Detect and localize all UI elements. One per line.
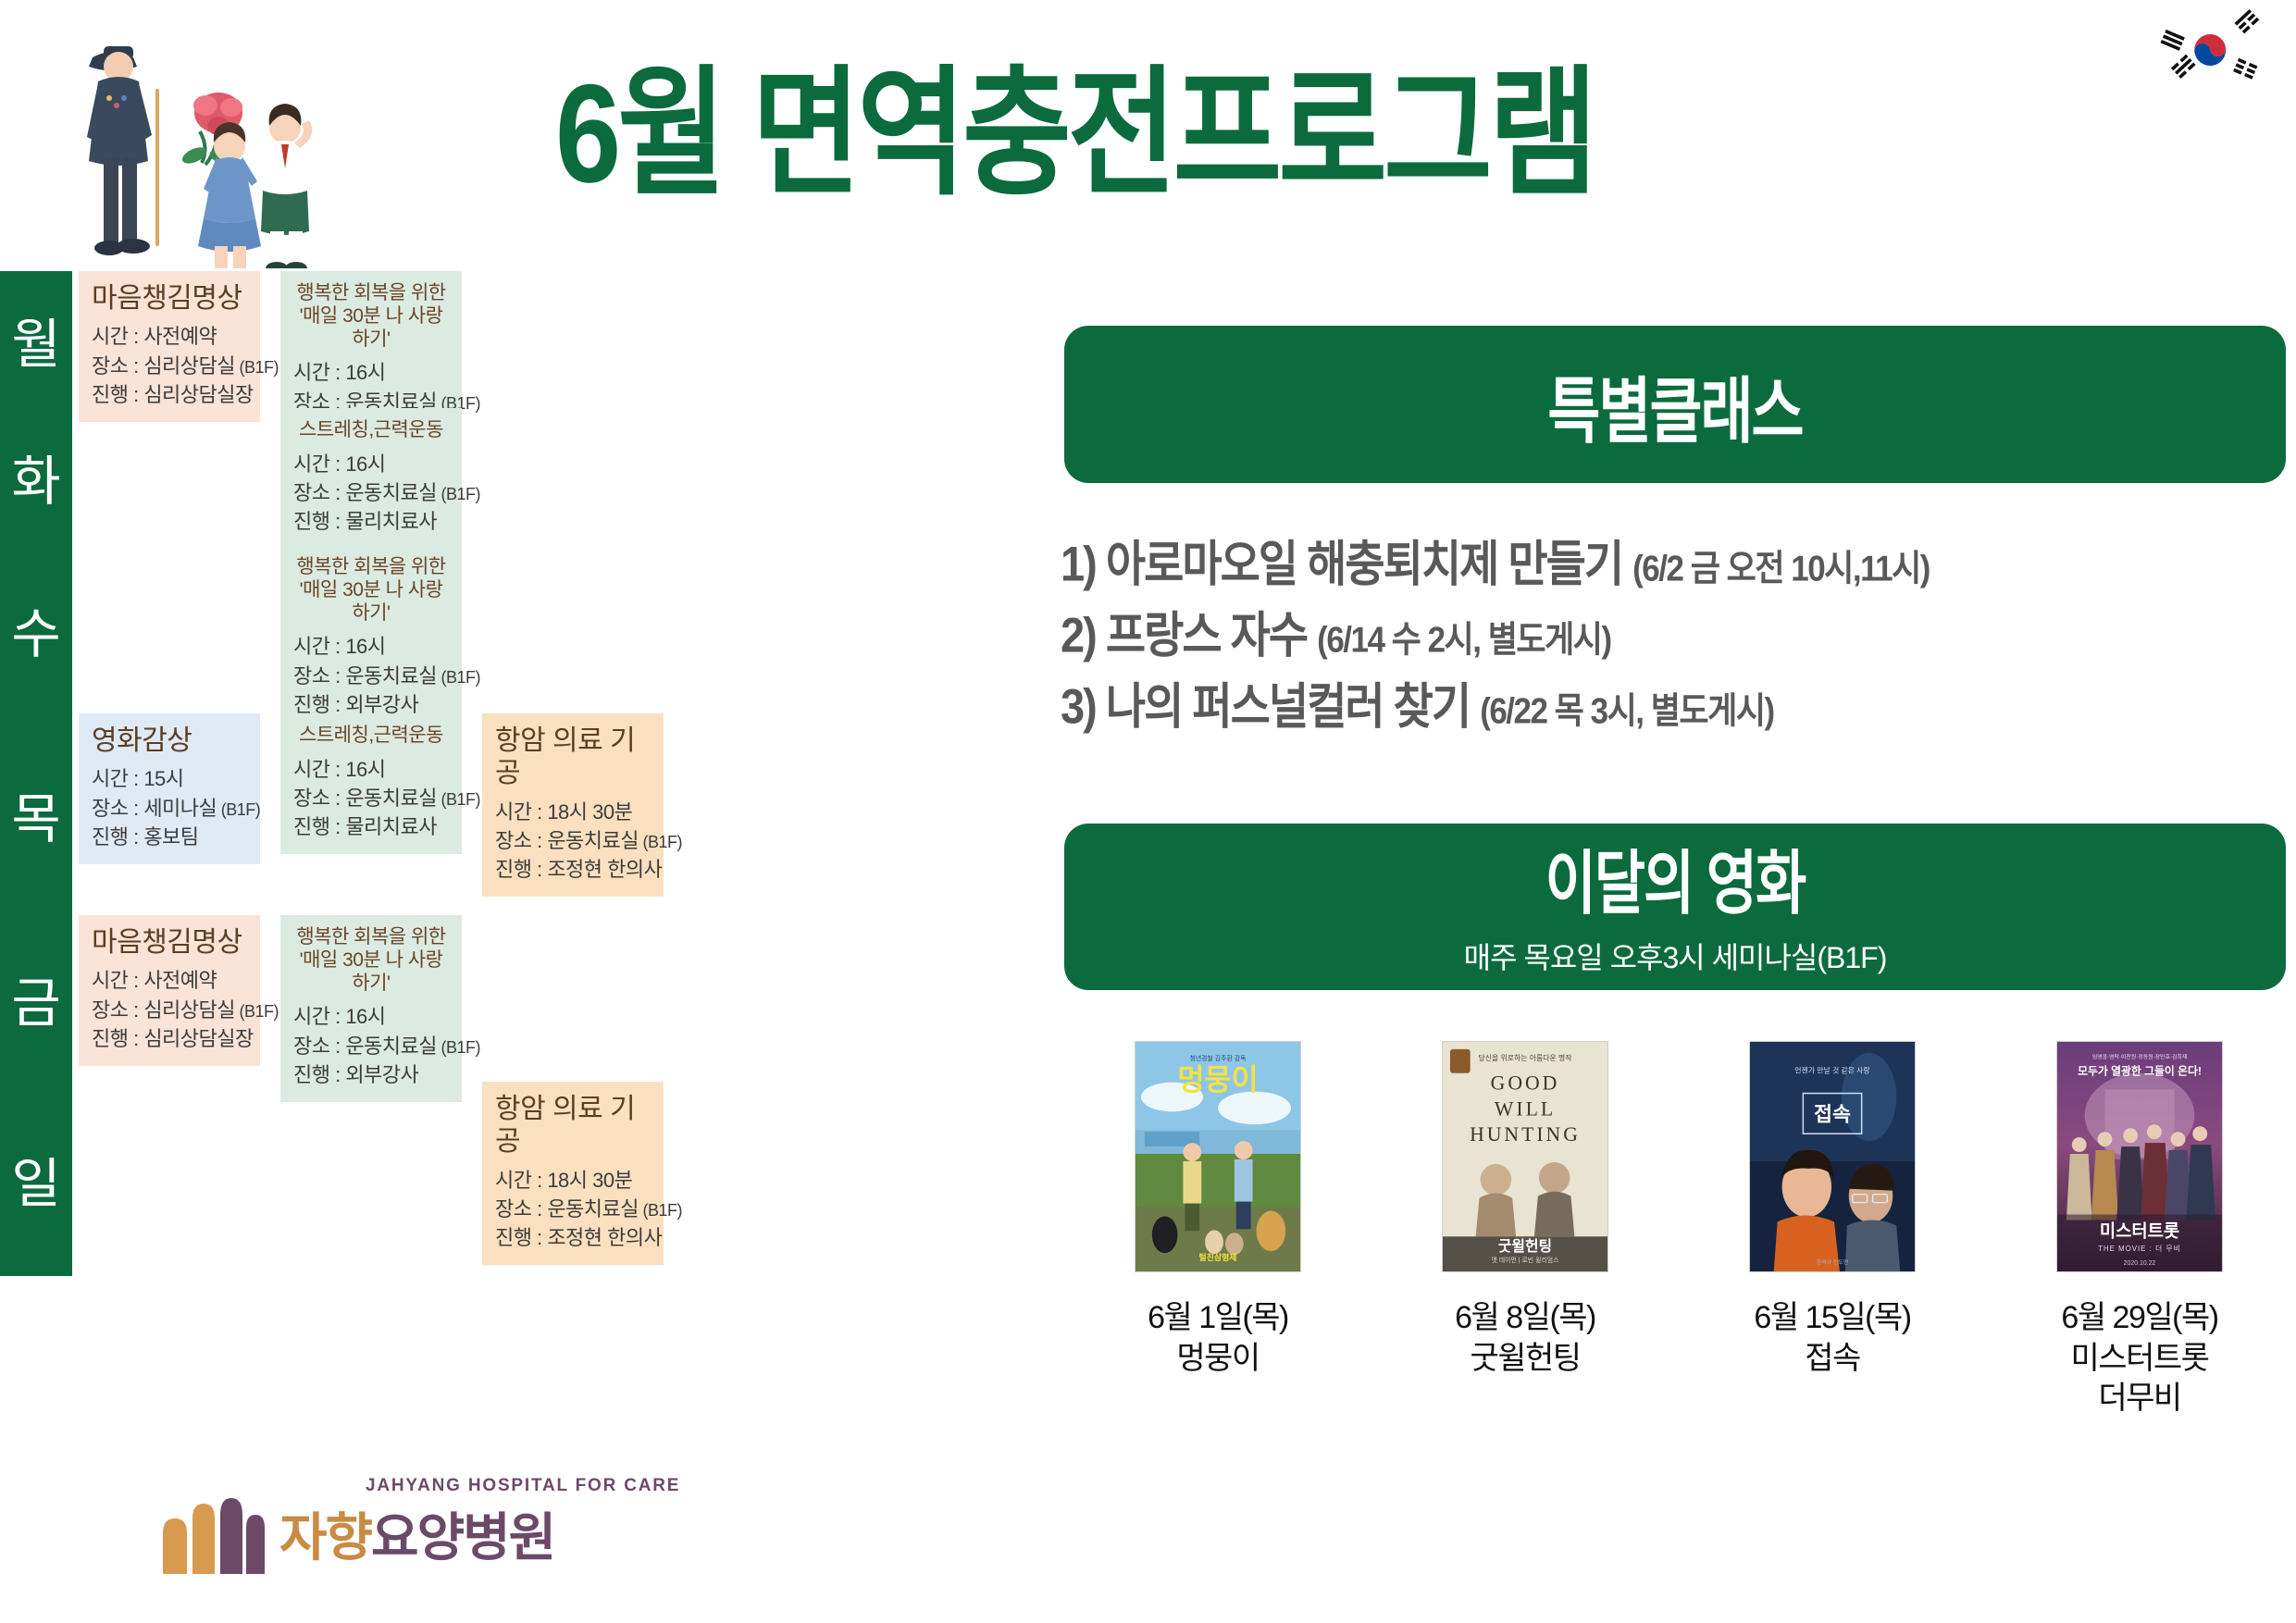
svg-text:맷 데이먼 | 로빈 윌리엄스: 맷 데이먼 | 로빈 윌리엄스 bbox=[1491, 1256, 1559, 1264]
program-detail-line: 장소 : 운동치료실 (B1F) bbox=[293, 478, 449, 507]
program-detail-line: 시간 : 18시 30분 bbox=[495, 798, 651, 826]
schedule-cell: 스트레칭,근력운동시간 : 16시장소 : 운동치료실 (B1F)진행 : 물리… bbox=[280, 408, 462, 549]
svg-text:WILL: WILL bbox=[1495, 1097, 1556, 1120]
movie-date: 6월 29일(목) bbox=[2061, 1298, 2217, 1339]
movie-title: 굿윌헌팅 bbox=[1455, 1339, 1595, 1380]
poster-jeopsok: 언젠가 만날 것 같은 사랑 접속 한석규 전도연 bbox=[1749, 1041, 1916, 1272]
program-detail-line: 진행 : 조정현 한의사 bbox=[495, 855, 651, 884]
svg-text:THE MOVIE : 더 무비: THE MOVIE : 더 무비 bbox=[2098, 1245, 2181, 1253]
program-detail-line: 시간 : 18시 30분 bbox=[495, 1166, 651, 1195]
special-class-item-detail: (6/22 목 3시, 별도게시) bbox=[1480, 691, 1774, 732]
svg-text:한석규 전도연: 한석규 전도연 bbox=[1817, 1258, 1848, 1266]
program-detail-line: 시간 : 16시 bbox=[293, 632, 449, 661]
program-detail-line: 시간 : 16시 bbox=[293, 450, 449, 478]
special-class-item: 1) 아로마오일 해충퇴치제 만들기 (6/2 금 오전 10시,11시) bbox=[1061, 532, 2291, 595]
special-class-banner-title: 특별클래스 bbox=[1547, 353, 1802, 457]
schedule-cell-empty bbox=[482, 408, 664, 432]
program-detail-line: 장소 : 심리상담실 (B1F) bbox=[92, 996, 247, 1024]
movie-poster-row: 멍뭉이 청년경찰 김주환 감독 털친삼형제 6월 1일(목)멍뭉이 당신을 위로… bbox=[1064, 1041, 2295, 1419]
program-detail-line: 시간 : 16시 bbox=[293, 1002, 449, 1031]
schedule-cell: 행복한 회복을 위한'매일 30분 나 사랑하기'시간 : 16시장소 : 운동… bbox=[280, 545, 462, 732]
schedule-row: 행복한 회복을 위한'매일 30분 나 사랑하기'시간 : 16시장소 : 운동… bbox=[79, 545, 1018, 713]
day-label-금: 금 bbox=[0, 915, 72, 1082]
svg-text:HUNTING: HUNTING bbox=[1470, 1123, 1581, 1146]
movie-date: 6월 8일(목) bbox=[1455, 1298, 1595, 1339]
svg-text:임영웅·영탁·이찬원·정동원·장민호·김희재: 임영웅·영탁·이찬원·정동원·장민호·김희재 bbox=[2092, 1053, 2188, 1060]
movie-title-line2: 더무비 bbox=[2061, 1379, 2217, 1419]
schedule-cell-empty bbox=[79, 408, 260, 432]
schedule-row: 마음챙김명상시간 : 사전예약장소 : 심리상담실 (B1F)진행 : 심리상담… bbox=[79, 271, 1018, 408]
logo-english-text: JAHYANG HOSPITAL FOR CARE bbox=[366, 1476, 680, 1496]
svg-text:청년경찰 김주환 감독: 청년경찰 김주환 감독 bbox=[1189, 1054, 1246, 1062]
schedule-cell-empty bbox=[482, 271, 664, 295]
program-detail-line: 장소 : 운동치료실 (B1F) bbox=[293, 1032, 449, 1060]
program-detail-line: 진행 : 조정현 한의사 bbox=[495, 1223, 651, 1252]
svg-text:털친삼형제: 털친삼형제 bbox=[1199, 1252, 1237, 1262]
schedule-row: 항암 의료 기공시간 : 18시 30분장소 : 운동치료실 (B1F)진행 :… bbox=[79, 1082, 1018, 1276]
special-class-item-detail: (6/14 수 2시, 별도게시) bbox=[1317, 620, 1611, 661]
movie-date: 6월 15일(목) bbox=[1754, 1298, 1910, 1339]
program-title: 항암 의료 기공 bbox=[495, 725, 651, 790]
program-detail-line: 시간 : 사전예약 bbox=[92, 322, 247, 351]
schedule-cell-empty bbox=[482, 915, 664, 939]
special-class-item-detail: (6/2 금 오전 10시,11시) bbox=[1632, 549, 1930, 589]
program-detail-line: 진행 : 홍보팀 bbox=[92, 823, 247, 851]
poster-good-will-hunting: 당신을 위로하는 아름다운 명작 GOOD WILL HUNTING 굿윌헌팅 … bbox=[1442, 1041, 1608, 1272]
right-panel: 특별클래스 1) 아로마오일 해충퇴치제 만들기 (6/2 금 오전 10시,1… bbox=[1055, 0, 2296, 1623]
poster-mr-trot-the-movie: 임영웅·영탁·이찬원·정동원·장민호·김희재 모두가 열광한 그들이 온다! 미… bbox=[2056, 1041, 2223, 1272]
svg-text:언젠가 만날 것 같은 사랑: 언젠가 만날 것 같은 사랑 bbox=[1794, 1066, 1869, 1075]
veteran-family-illustration bbox=[37, 9, 463, 268]
program-detail-line: 진행 : 심리상담실장 bbox=[92, 380, 247, 409]
schedule-cell-empty bbox=[280, 1082, 462, 1106]
special-class-banner: 특별클래스 bbox=[1064, 326, 2286, 483]
program-title: 영화감상 bbox=[92, 725, 247, 757]
schedule-row: 영화감상시간 : 15시장소 : 세미나실 (B1F)진행 : 홍보팀스트레칭,… bbox=[79, 713, 1018, 915]
svg-text:미스터트롯: 미스터트롯 bbox=[2100, 1220, 2179, 1240]
schedule-cell-empty bbox=[482, 545, 664, 569]
schedule-cell: 행복한 회복을 위한'매일 30분 나 사랑하기'시간 : 16시장소 : 운동… bbox=[280, 915, 462, 1102]
program-title: 마음챙김명상 bbox=[92, 926, 247, 959]
movie-title: 멍뭉이 bbox=[1148, 1339, 1288, 1380]
program-title: 마음챙김명상 bbox=[92, 282, 247, 315]
program-detail-line: 시간 : 사전예약 bbox=[92, 966, 247, 995]
svg-text:GOOD: GOOD bbox=[1491, 1072, 1560, 1095]
day-label-목: 목 bbox=[0, 713, 72, 915]
program-title: 항암 의료 기공 bbox=[495, 1093, 651, 1158]
schedule-cell-empty bbox=[79, 545, 260, 569]
special-class-item-name: 1) 아로마오일 해충퇴치제 만들기 bbox=[1061, 536, 1632, 590]
day-label-일: 일 bbox=[0, 1082, 72, 1276]
day-label-월: 월 bbox=[0, 271, 72, 408]
program-detail-line: 장소 : 운동치료실 (B1F) bbox=[495, 1195, 651, 1223]
program-detail-line: 장소 : 세미나실 (B1F) bbox=[92, 794, 247, 823]
special-class-item-name: 2) 프랑스 자수 bbox=[1061, 608, 1317, 663]
movie-banner-subtitle: 매주 목요일 오후3시 세미나실(B1F) bbox=[1464, 935, 1887, 977]
day-label-화: 화 bbox=[0, 408, 72, 545]
movie-caption: 6월 15일(목)접속 bbox=[1754, 1298, 1910, 1379]
logo-brand: 자향 bbox=[279, 1508, 371, 1567]
movie-item: 멍뭉이 청년경찰 김주환 감독 털친삼형제 6월 1일(목)멍뭉이 bbox=[1064, 1041, 1371, 1419]
movie-caption: 6월 8일(목)굿윌헌팅 bbox=[1455, 1298, 1595, 1379]
schedule-cell: 스트레칭,근력운동시간 : 16시장소 : 운동치료실 (B1F)진행 : 물리… bbox=[280, 713, 462, 854]
program-detail-line: 진행 : 물리치료사 bbox=[293, 812, 449, 841]
schedule-rows: 마음챙김명상시간 : 사전예약장소 : 심리상담실 (B1F)진행 : 심리상담… bbox=[79, 271, 1018, 1276]
poster-meongmungi: 멍뭉이 청년경찰 김주환 감독 털친삼형제 bbox=[1135, 1041, 1301, 1272]
special-class-list: 1) 아로마오일 해충퇴치제 만들기 (6/2 금 오전 10시,11시)2) … bbox=[1061, 532, 2291, 746]
movie-banner-title: 이달의 영화 bbox=[1545, 827, 1806, 928]
program-detail-line: 장소 : 심리상담실 (B1F) bbox=[92, 352, 247, 380]
program-detail-line: 시간 : 16시 bbox=[293, 755, 449, 784]
program-detail-line: 시간 : 15시 bbox=[92, 764, 247, 793]
logo-type: 요양병원 bbox=[371, 1508, 554, 1567]
special-class-item: 3) 나의 퍼스널컬러 찾기 (6/22 목 3시, 별도게시) bbox=[1061, 675, 2291, 737]
program-title: 스트레칭,근력운동 bbox=[293, 419, 449, 442]
movie-title: 접속 bbox=[1754, 1339, 1910, 1380]
movie-banner: 이달의 영화 매주 목요일 오후3시 세미나실(B1F) bbox=[1064, 824, 2286, 990]
logo-korean-text: 자향요양병원 bbox=[279, 1496, 554, 1571]
svg-text:2020.10.22: 2020.10.22 bbox=[2124, 1260, 2156, 1267]
schedule-row: 마음챙김명상시간 : 사전예약장소 : 심리상담실 (B1F)진행 : 심리상담… bbox=[79, 915, 1018, 1082]
program-detail-line: 장소 : 운동치료실 (B1F) bbox=[495, 826, 651, 855]
schedule-cell: 마음챙김명상시간 : 사전예약장소 : 심리상담실 (B1F)진행 : 심리상담… bbox=[79, 271, 260, 422]
program-title: 행복한 회복을 위한'매일 30분 나 사랑하기' bbox=[293, 926, 449, 995]
special-class-item: 2) 프랑스 자수 (6/14 수 2시, 별도게시) bbox=[1061, 603, 2291, 666]
hospital-logo: JAHYANG HOSPITAL FOR CARE 자향요양병원 bbox=[157, 1476, 602, 1587]
logo-mark-icon bbox=[157, 1491, 268, 1576]
schedule-cell-empty bbox=[79, 1082, 260, 1106]
schedule-cell: 마음챙김명상시간 : 사전예약장소 : 심리상담실 (B1F)진행 : 심리상담… bbox=[79, 915, 260, 1066]
svg-text:굿윌헌팅: 굿윌헌팅 bbox=[1498, 1237, 1552, 1255]
svg-text:멍뭉이: 멍뭉이 bbox=[1177, 1063, 1258, 1096]
program-detail-line: 진행 : 물리치료사 bbox=[293, 507, 449, 536]
svg-text:접속: 접속 bbox=[1814, 1102, 1851, 1125]
movie-item: 언젠가 만날 것 같은 사랑 접속 한석규 전도연 6월 15일(목)접속 bbox=[1679, 1041, 1986, 1419]
movie-caption: 6월 1일(목)멍뭉이 bbox=[1148, 1298, 1288, 1379]
movie-caption: 6월 29일(목)미스터트롯더무비 bbox=[2061, 1298, 2217, 1419]
special-class-item-name: 3) 나의 퍼스널컬러 찾기 bbox=[1061, 679, 1480, 734]
program-detail-line: 장소 : 운동치료실 (B1F) bbox=[293, 662, 449, 690]
day-column: 월화수목금일 bbox=[0, 271, 72, 1276]
program-detail-line: 시간 : 16시 bbox=[293, 358, 449, 387]
svg-text:당신을 위로하는 아름다운 명작: 당신을 위로하는 아름다운 명작 bbox=[1479, 1053, 1572, 1062]
schedule-cell: 항암 의료 기공시간 : 18시 30분장소 : 운동치료실 (B1F)진행 :… bbox=[482, 1082, 664, 1265]
program-title: 행복한 회복을 위한'매일 30분 나 사랑하기' bbox=[293, 556, 449, 625]
program-title: 행복한 회복을 위한'매일 30분 나 사랑하기' bbox=[293, 282, 449, 351]
day-label-수: 수 bbox=[0, 545, 72, 713]
svg-text:모두가 열광한 그들이 온다!: 모두가 열광한 그들이 온다! bbox=[2078, 1065, 2202, 1078]
schedule-row: 스트레칭,근력운동시간 : 16시장소 : 운동치료실 (B1F)진행 : 물리… bbox=[79, 408, 1018, 545]
schedule-cell: 항암 의료 기공시간 : 18시 30분장소 : 운동치료실 (B1F)진행 :… bbox=[482, 713, 664, 897]
movie-date: 6월 1일(목) bbox=[1148, 1298, 1288, 1339]
movie-item: 임영웅·영탁·이찬원·정동원·장민호·김희재 모두가 열광한 그들이 온다! 미… bbox=[1986, 1041, 2293, 1419]
program-detail-line: 진행 : 심리상담실장 bbox=[92, 1024, 247, 1053]
schedule-cell: 영화감상시간 : 15시장소 : 세미나실 (B1F)진행 : 홍보팀 bbox=[79, 713, 260, 864]
program-detail-line: 장소 : 운동치료실 (B1F) bbox=[293, 784, 449, 812]
movie-item: 당신을 위로하는 아름다운 명작 GOOD WILL HUNTING 굿윌헌팅 … bbox=[1371, 1041, 1679, 1419]
movie-title: 미스터트롯 bbox=[2061, 1339, 2217, 1380]
program-title: 스트레칭,근력운동 bbox=[293, 725, 449, 748]
